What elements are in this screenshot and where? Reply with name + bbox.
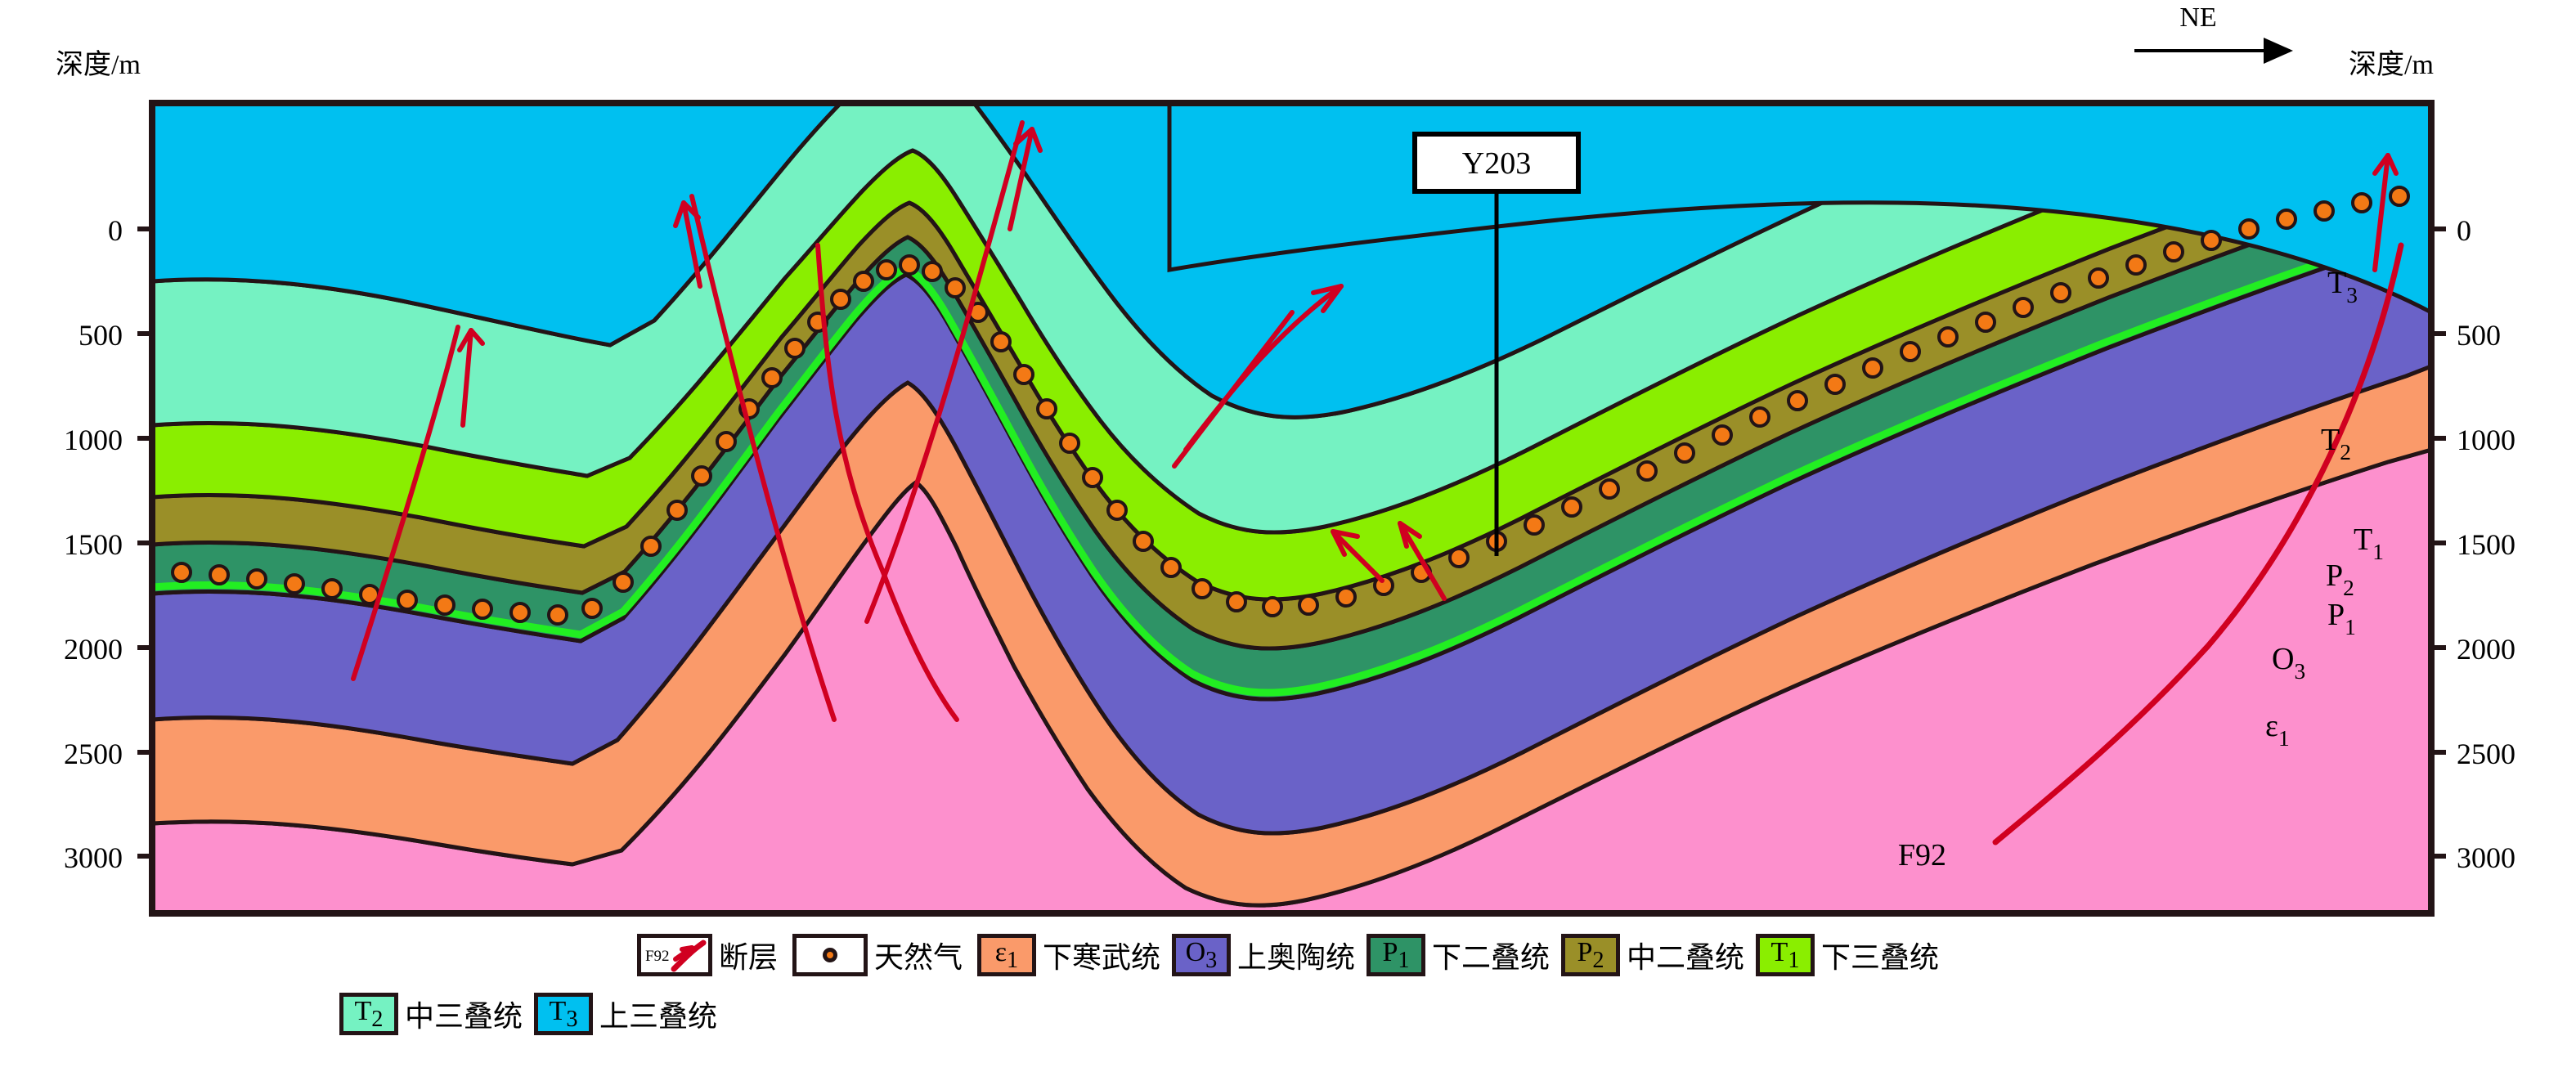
gas-dot-icon	[823, 948, 837, 962]
fault-name-f92: F92	[1898, 838, 1946, 872]
tick-right-1500: 1500	[2428, 528, 2515, 561]
legend-item-O3[interactable]: O3 上奥陶统	[1172, 934, 1355, 976]
legend-swatch-T3: T3	[534, 993, 593, 1035]
legend-label-P2: 中二叠统	[1627, 934, 1744, 976]
legend-item-E1[interactable]: ε1 下寒武统	[977, 934, 1160, 976]
well-callout-y203[interactable]: Y203	[1415, 134, 1578, 191]
legend-item-fault[interactable]: F92 断层	[637, 934, 778, 976]
tick-right-2500: 2500	[2428, 738, 2515, 770]
well-label-text: Y203	[1462, 146, 1531, 181]
tick-right-1000: 1000	[2428, 424, 2515, 456]
figure-root: 深度/m 深度/m NE	[0, 0, 2576, 1072]
legend: F92 断层 天然气 ε1 下寒武统	[0, 926, 2576, 1043]
tick-left-label-500: 500	[79, 319, 123, 352]
tick-left-label-2000: 2000	[64, 633, 123, 666]
tick-right-label-0: 0	[2457, 214, 2471, 247]
legend-symbol-P1: P1	[1382, 937, 1409, 974]
tick-left-1500: 1500	[64, 528, 155, 561]
tick-left-2500: 2500	[64, 738, 155, 770]
tick-left-3000: 3000	[64, 841, 155, 874]
fault-symbol-icon	[646, 938, 713, 972]
legend-label-gas: 天然气	[874, 934, 963, 976]
legend-swatch-T1: T1	[1756, 934, 1815, 976]
legend-symbol-T1: T1	[1771, 937, 1800, 974]
legend-item-T3[interactable]: T3 上三叠统	[534, 993, 717, 1035]
legend-item-P1[interactable]: P1 下二叠统	[1367, 934, 1550, 976]
axis-left: 0 500 1000 1500 2000 2500 3000	[64, 214, 155, 874]
legend-label-T3: 上三叠统	[599, 993, 717, 1035]
axis-right-title: 深度/m	[2349, 49, 2434, 80]
legend-symbol-E1: ε1	[995, 937, 1018, 974]
legend-symbol-P2: P2	[1577, 937, 1604, 974]
tick-left-500: 500	[79, 319, 155, 352]
legend-label-T1: 下三叠统	[1821, 934, 1939, 976]
legend-item-T1[interactable]: T1 下三叠统	[1756, 934, 1939, 976]
legend-swatch-O3: O3	[1172, 934, 1231, 976]
legend-item-gas[interactable]: 天然气	[792, 934, 963, 976]
legend-swatch-fault: F92	[637, 934, 712, 976]
tick-right-500: 500	[2428, 319, 2501, 352]
legend-label-E1: 下寒武统	[1043, 934, 1160, 976]
tick-left-label-1500: 1500	[64, 528, 123, 561]
legend-label-fault: 断层	[719, 934, 778, 976]
legend-swatch-T2: T2	[339, 993, 398, 1035]
legend-swatch-P1: P1	[1367, 934, 1425, 976]
legend-label-T2: 中三叠统	[405, 993, 523, 1035]
legend-swatch-P2: P2	[1561, 934, 1620, 976]
tick-left-label-0: 0	[108, 214, 123, 247]
legend-swatch-gas	[792, 934, 868, 976]
legend-label-P1: 下二叠统	[1432, 934, 1550, 976]
tick-right-label-1000: 1000	[2457, 424, 2515, 456]
tick-right-2000: 2000	[2428, 633, 2515, 666]
axis-right: 0 500 1000 1500 2000 2500 3000	[2428, 214, 2515, 874]
tick-right-label-2500: 2500	[2457, 738, 2515, 770]
tick-left-label-2500: 2500	[64, 738, 123, 770]
cross-section-body	[152, 0, 2431, 913]
legend-label-O3: 上奥陶统	[1237, 934, 1355, 976]
tick-right-label-500: 500	[2457, 319, 2501, 352]
legend-item-P2[interactable]: P2 中二叠统	[1561, 934, 1744, 976]
legend-symbol-T2: T2	[355, 996, 384, 1033]
tick-right-label-1500: 1500	[2457, 528, 2515, 561]
tick-left-0: 0	[108, 214, 155, 247]
legend-item-T2[interactable]: T2 中三叠统	[339, 993, 523, 1035]
direction-arrow-group: NE	[2134, 2, 2290, 51]
tick-right-label-3000: 3000	[2457, 841, 2515, 874]
direction-label: NE	[2179, 2, 2216, 33]
legend-swatch-E1: ε1	[977, 934, 1036, 976]
legend-row-2: T2 中三叠统 T3 上三叠统	[0, 985, 2576, 1043]
axis-left-title: 深度/m	[56, 49, 141, 80]
legend-symbol-O3: O3	[1186, 937, 1218, 974]
tick-right-label-2000: 2000	[2457, 633, 2515, 666]
tick-left-2000: 2000	[64, 633, 155, 666]
tick-left-label-3000: 3000	[64, 841, 123, 874]
legend-symbol-T3: T3	[550, 996, 578, 1033]
tick-right-3000: 3000	[2428, 841, 2515, 874]
tick-left-label-1000: 1000	[64, 424, 123, 456]
cross-section-figure: 深度/m 深度/m NE	[0, 0, 2576, 1072]
tick-left-1000: 1000	[64, 424, 155, 456]
legend-row-1: F92 断层 天然气 ε1 下寒武统	[0, 926, 2576, 985]
